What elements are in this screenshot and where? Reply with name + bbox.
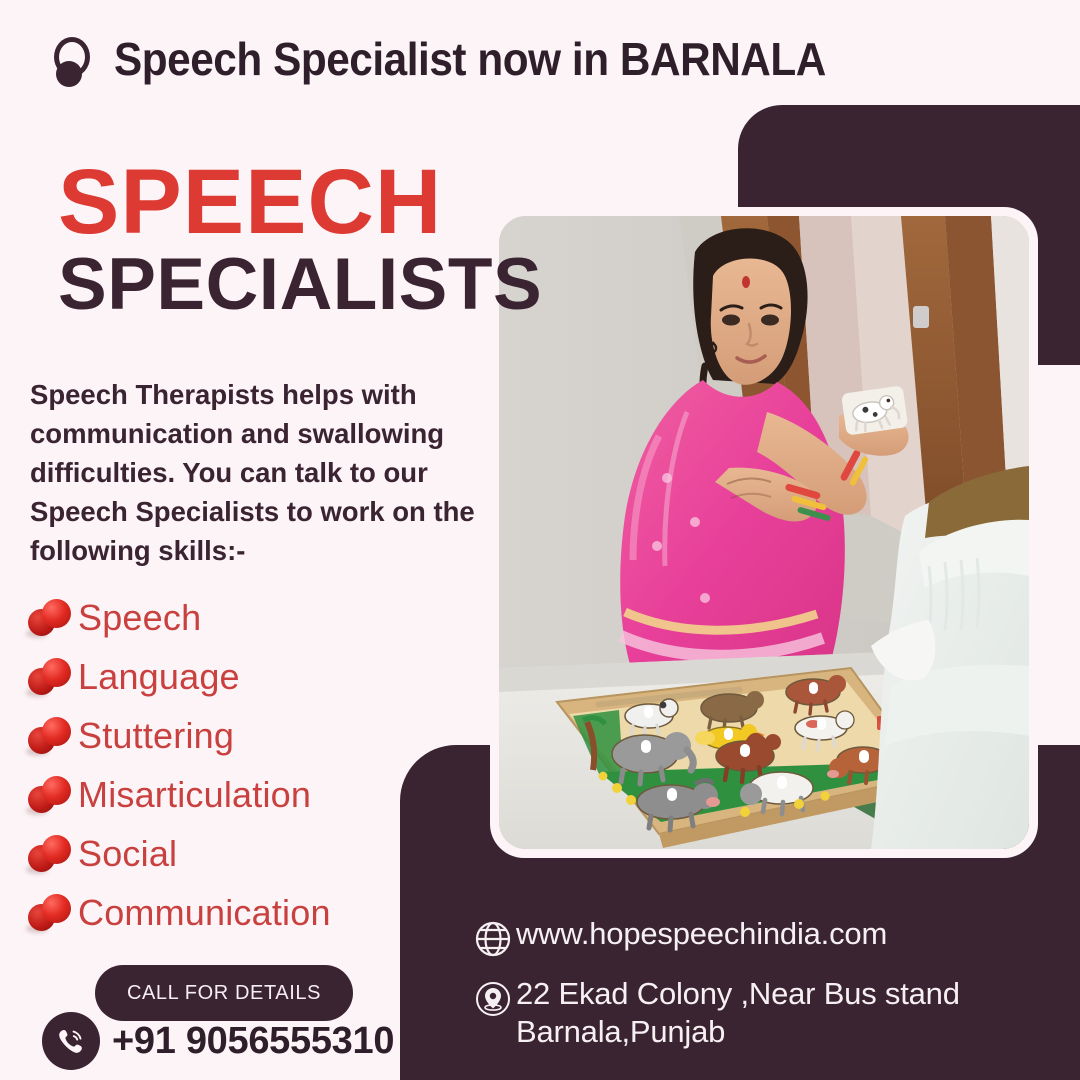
skill-label: Stuttering: [78, 715, 234, 757]
therapy-session-photo: [499, 216, 1029, 849]
location-pin-icon: [470, 975, 516, 1019]
phone-number: +91 9056555310: [112, 1020, 394, 1063]
call-for-details-label: CALL FOR DETAILS: [127, 982, 321, 1005]
photo-frame: [490, 207, 1038, 858]
skill-label: Speech: [78, 597, 201, 639]
address-text: 22 Ekad Colony ,Near Bus stand Barnala,P…: [516, 975, 1070, 1052]
speech-bubble-icon: [48, 33, 100, 85]
address-row: 22 Ekad Colony ,Near Bus stand Barnala,P…: [470, 975, 1070, 1052]
heading-line-specialists: SPECIALISTS: [58, 247, 542, 324]
website-row[interactable]: www.hopespeechindia.com: [470, 915, 1070, 959]
website-url: www.hopespeechindia.com: [516, 915, 887, 953]
skills-list: Speech Language Stuttering Misarticulati…: [22, 588, 452, 942]
red-pushpin-icon: [22, 654, 78, 700]
skill-label: Misarticulation: [78, 774, 311, 816]
skill-label: Language: [78, 656, 240, 698]
hero-heading: SPEECH SPECIALISTS: [58, 160, 542, 323]
intro-paragraph: Speech Therapists helps with communicati…: [30, 375, 500, 570]
list-item: Stuttering: [22, 706, 452, 765]
flyer-canvas: Speech Specialist now in BARNALA SPEECH …: [0, 0, 1080, 1080]
heading-line-speech: SPEECH: [58, 160, 542, 245]
globe-icon: [470, 915, 516, 959]
red-pushpin-icon: [22, 595, 78, 641]
page-title: Speech Specialist now in BARNALA: [114, 32, 826, 86]
skill-label: Social: [78, 833, 177, 875]
list-item: Social: [22, 824, 452, 883]
red-pushpin-icon: [22, 772, 78, 818]
header-bar: Speech Specialist now in BARNALA: [0, 0, 1080, 118]
red-pushpin-icon: [22, 890, 78, 936]
list-item: Communication: [22, 883, 452, 942]
list-item: Misarticulation: [22, 765, 452, 824]
red-pushpin-icon: [22, 831, 78, 877]
footer-contact-list: www.hopespeechindia.com 22 Ekad Colony ,…: [470, 915, 1070, 1068]
list-item: Speech: [22, 588, 452, 647]
phone-call-icon: [42, 1012, 100, 1070]
phone-contact[interactable]: +91 9056555310: [42, 1012, 394, 1070]
skill-label: Communication: [78, 892, 331, 934]
red-pushpin-icon: [22, 713, 78, 759]
list-item: Language: [22, 647, 452, 706]
